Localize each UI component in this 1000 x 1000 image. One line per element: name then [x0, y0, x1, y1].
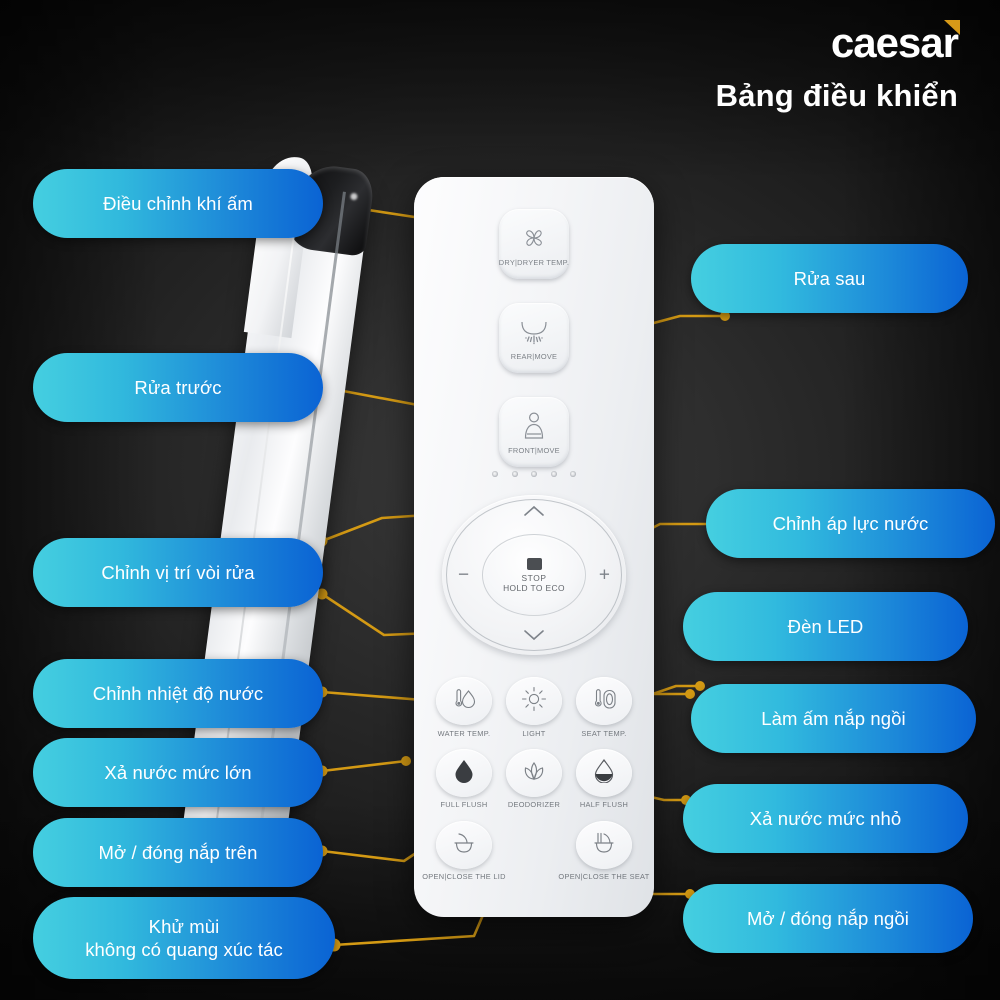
callout-label: Mở / đóng nắp trên	[99, 841, 258, 864]
callout-label: Xả nước mức lớn	[104, 761, 251, 784]
thermometer-seat-icon	[591, 687, 617, 716]
callout-label: Rửa sau	[794, 267, 866, 290]
brand-block: caesar Bảng điều khiển	[716, 22, 958, 114]
button-dry-dryer-temp[interactable]: DRY|DRYER TEMP.	[499, 209, 569, 279]
front-person-icon	[521, 409, 547, 443]
thermometer-water-icon	[451, 687, 477, 716]
callout-half-flush[interactable]: Xả nước mức nhỏ	[683, 784, 968, 853]
lotus-icon	[520, 760, 548, 787]
callout-open-close-lid[interactable]: Mở / đóng nắp trên	[33, 818, 323, 887]
button-caption: REAR|MOVE	[511, 352, 557, 361]
caption-seat-temp: SEAT TEMP.	[556, 729, 652, 738]
callout-label: Rửa trước	[134, 376, 221, 399]
page-title: Bảng điều khiển	[716, 78, 958, 114]
minus-button[interactable]: −	[458, 566, 469, 585]
led-dot	[551, 471, 557, 477]
callout-label: Chỉnh nhiệt độ nước	[93, 682, 263, 705]
caesar-logo: caesar	[831, 22, 958, 64]
remote-control-panel: DRY|DRYER TEMP. REAR|MOVE	[414, 177, 654, 917]
callout-rear-move[interactable]: Rửa sau	[691, 244, 968, 313]
logo-accent-tick-icon	[944, 20, 960, 35]
callout-label: Làm ấm nắp ngồi	[761, 707, 905, 730]
drop-full-icon	[454, 759, 474, 788]
callout-full-flush[interactable]: Xả nước mức lớn	[33, 738, 323, 807]
led-indicator-row	[492, 471, 576, 477]
toilet-seat-icon	[590, 831, 618, 860]
callout-label: Xả nước mức nhỏ	[750, 807, 902, 830]
callout-nozzle-position[interactable]: Chỉnh vị trí vòi rửa	[33, 538, 323, 607]
caption-half-flush: HALF FLUSH	[556, 800, 652, 809]
button-light[interactable]	[506, 677, 562, 725]
callout-label: Mở / đóng nắp ngồi	[747, 907, 909, 930]
button-open-close-seat[interactable]	[576, 821, 632, 869]
callout-label-line2: không có quang xúc tác	[85, 938, 283, 961]
callout-front-move[interactable]: Rửa trước	[33, 353, 323, 422]
button-front-move[interactable]: FRONT|MOVE	[499, 397, 569, 467]
led-dot	[531, 471, 537, 477]
callout-label: Điều chỉnh khí ấm	[103, 192, 253, 215]
button-caption: FRONT|MOVE	[508, 446, 560, 455]
led-dot	[512, 471, 518, 477]
stop-button[interactable]: STOP HOLD TO ECO	[482, 534, 586, 616]
callout-water-pressure[interactable]: Chỉnh áp lực nước	[706, 489, 995, 558]
directional-pad[interactable]: − + STOP HOLD TO ECO	[442, 495, 626, 655]
callout-label: Đèn LED	[788, 615, 864, 638]
button-rear-move[interactable]: REAR|MOVE	[499, 303, 569, 373]
button-full-flush[interactable]	[436, 749, 492, 797]
fan-icon	[519, 221, 549, 255]
button-open-close-lid[interactable]	[436, 821, 492, 869]
button-seat-temp[interactable]	[576, 677, 632, 725]
chevron-up-icon[interactable]	[523, 504, 545, 522]
callout-label: Chỉnh áp lực nước	[773, 512, 929, 535]
toilet-lid-icon	[450, 831, 478, 860]
plus-button[interactable]: +	[599, 566, 610, 585]
poster-canvas: caesar Bảng điều khiển	[0, 0, 1000, 1000]
caption-open-close-lid: OPEN|CLOSE THE LID	[416, 872, 512, 881]
callout-label: Chỉnh vị trí vòi rửa	[101, 561, 254, 584]
rear-spray-icon	[518, 315, 550, 349]
button-half-flush[interactable]	[576, 749, 632, 797]
button-caption: DRY|DRYER TEMP.	[499, 258, 569, 267]
button-water-temp[interactable]	[436, 677, 492, 725]
caption-open-close-seat: OPEN|CLOSE THE SEAT	[556, 872, 652, 881]
callout-water-temp[interactable]: Chỉnh nhiệt độ nước	[33, 659, 323, 728]
sun-icon	[521, 686, 547, 717]
caesar-logo-text: caesar	[831, 19, 958, 66]
stop-square-icon	[527, 558, 542, 570]
led-dot	[492, 471, 498, 477]
stop-label: STOP	[521, 573, 546, 583]
led-dot	[570, 471, 576, 477]
callout-seat-temp[interactable]: Làm ấm nắp ngồi	[691, 684, 976, 753]
callout-dry-dryer-temp[interactable]: Điều chỉnh khí ấm	[33, 169, 323, 238]
button-deodorizer[interactable]	[506, 749, 562, 797]
drop-half-icon	[594, 759, 614, 788]
chevron-down-icon[interactable]	[523, 628, 545, 646]
callout-open-close-seat[interactable]: Mở / đóng nắp ngồi	[683, 884, 973, 953]
eco-hint-label: HOLD TO ECO	[503, 583, 565, 593]
callout-deodorizer[interactable]: Khử mùi không có quang xúc tác	[33, 897, 335, 979]
callout-light[interactable]: Đèn LED	[683, 592, 968, 661]
callout-label-line1: Khử mùi	[149, 915, 220, 938]
